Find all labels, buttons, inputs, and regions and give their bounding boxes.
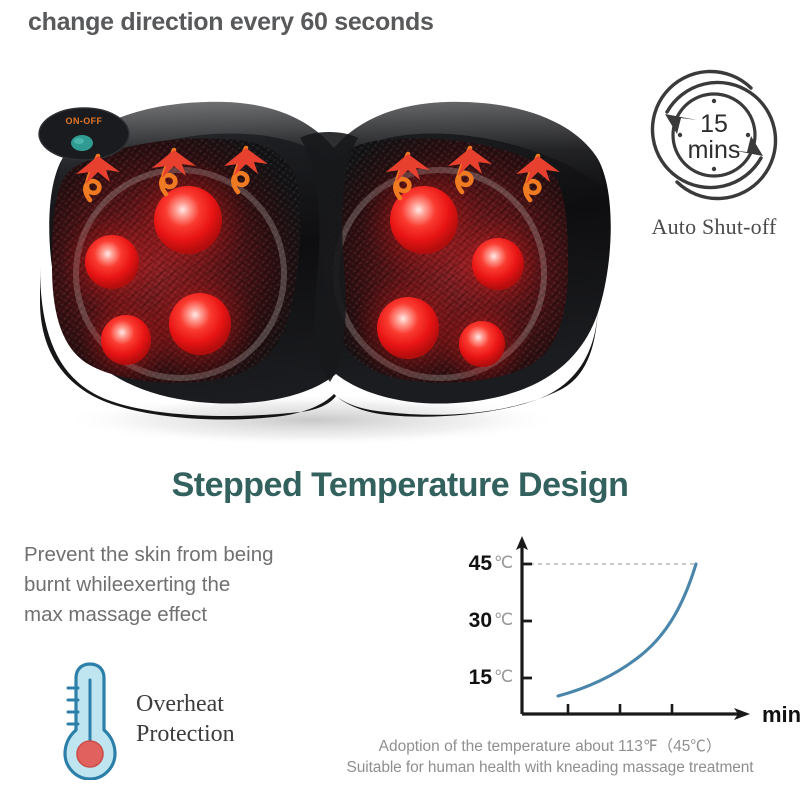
shutoff-value: 15 (700, 110, 728, 138)
heat-node (154, 186, 222, 254)
temperature-curve (558, 564, 696, 696)
x-axis-label: min (762, 702, 800, 727)
description-line-3: max massage effect (24, 600, 354, 630)
shutoff-unit: mins (688, 136, 741, 164)
y-tick-number-15: 15 (469, 666, 493, 689)
description-line-2: burnt whileexerting the (24, 570, 354, 600)
overheat-label-line-1: Overheat (136, 689, 235, 719)
product-shadow (62, 394, 562, 446)
power-button-label: ON-OFF (66, 116, 103, 126)
overheat-protection-label: Overheat Protection (136, 689, 235, 749)
description-line-1: Prevent the skin from being (24, 540, 354, 570)
auto-shutoff-feature: 15 mins Auto Shut-off (628, 62, 800, 240)
massage-pillow-illustration: ON-OFF (0, 52, 620, 452)
rotating-timer-icon: 15 mins (639, 62, 789, 208)
y-tick-number-30: 30 (469, 609, 492, 632)
y-tick-unit-15: ℃ (494, 667, 513, 686)
chart-caption-line-1: Adoption of the temperature about 113℉（4… (300, 736, 800, 757)
heat-node (85, 235, 139, 289)
thermometer-bulb (77, 741, 103, 767)
heat-node (459, 321, 505, 367)
y-tick-number-45: 45 (469, 552, 493, 575)
heat-node (377, 297, 439, 359)
chart-caption: Adoption of the temperature about 113℉（4… (300, 736, 800, 778)
auto-shutoff-icon-wrap: 15 mins (628, 62, 800, 210)
thermometer-icon (62, 658, 118, 780)
y-tick-unit-30: ℃ (494, 610, 513, 629)
chart-caption-line-2: Suitable for human health with kneading … (300, 757, 800, 778)
temperature-rise-line-chart: 45 ℃ 30 ℃ 15 ℃ min (418, 528, 800, 728)
overheat-protection-feature: Overheat Protection (62, 658, 235, 780)
header-tagline: change direction every 60 seconds (28, 8, 434, 37)
auto-shutoff-caption: Auto Shut-off (628, 214, 800, 240)
description-text: Prevent the skin from being burnt whilee… (24, 540, 354, 630)
heat-node (169, 293, 231, 355)
section-heading: Stepped Temperature Design (0, 466, 800, 505)
power-button[interactable]: ON-OFF (39, 108, 129, 160)
heat-node (472, 238, 524, 290)
overheat-label-line-2: Protection (136, 719, 235, 749)
y-tick-unit-45: ℃ (494, 553, 513, 572)
temperature-chart: 45 ℃ 30 ℃ 15 ℃ min (418, 528, 800, 728)
heat-node (101, 315, 151, 365)
thermometer-icon-wrap (62, 658, 118, 780)
y-axis-tick-labels: 45 ℃ 30 ℃ 15 ℃ (469, 552, 513, 689)
product-image: ON-OFF (0, 52, 620, 452)
